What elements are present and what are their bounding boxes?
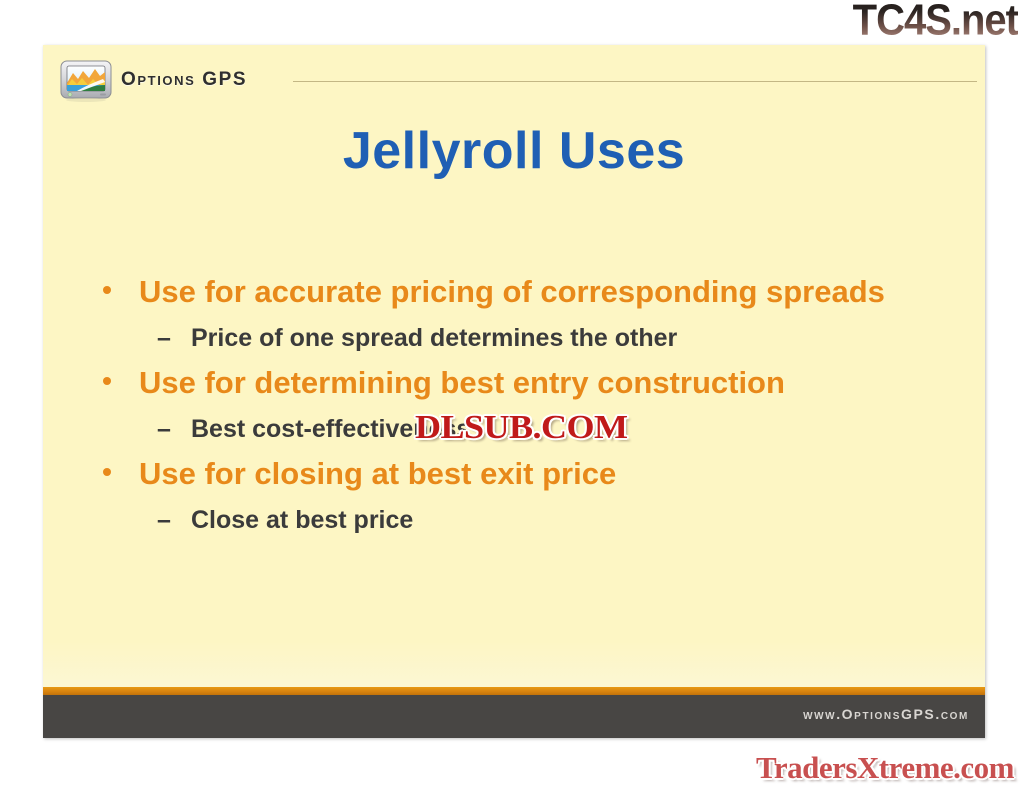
slide-header: Options GPS <box>43 45 985 107</box>
footer-url: www.OptionsGPS.com <box>803 706 969 722</box>
bullet-level2-text: Price of one spread determines the other <box>191 324 677 352</box>
bullet-dot-icon <box>103 468 111 476</box>
bullet-level1-text: Use for closing at best exit price <box>139 456 616 491</box>
bullet-dash-icon: – <box>157 315 171 361</box>
bullet-level2-text: Close at best price <box>191 506 413 534</box>
header-divider <box>293 81 977 82</box>
slide-body: Use for accurate pricing of correspondin… <box>95 270 955 543</box>
footer-accent-bar <box>43 687 985 695</box>
bullet-level1: Use for closing at best exit price <box>95 452 955 495</box>
bullet-dot-icon <box>103 377 111 385</box>
brand-wordmark: Options GPS <box>121 69 247 91</box>
bullet-level1: Use for determining best entry construct… <box>95 361 955 404</box>
bullet-level1-text: Use for accurate pricing of correspondin… <box>139 274 885 309</box>
bullet-level1-text: Use for determining best entry construct… <box>139 365 785 400</box>
page-title: Jellyroll Uses <box>43 121 985 181</box>
footer-bar: www.OptionsGPS.com <box>43 695 985 738</box>
bullet-dash-icon: – <box>157 497 171 543</box>
gps-device-icon <box>59 59 113 102</box>
dlsub-watermark: DLSUB.COM <box>415 411 627 445</box>
presentation-slide: Options GPS Jellyroll Uses Use for accur… <box>43 45 985 738</box>
tc4s-watermark: TC4S.net <box>853 0 1018 43</box>
bullet-dash-icon: – <box>157 406 171 452</box>
bullet-level2: – Close at best price <box>95 497 955 543</box>
bullet-dot-icon <box>103 286 111 294</box>
bullet-level2: – Price of one spread determines the oth… <box>95 315 955 361</box>
bullet-level1: Use for accurate pricing of correspondin… <box>95 270 955 313</box>
tradersxtreme-watermark: TradersXtreme.com <box>756 751 1014 785</box>
